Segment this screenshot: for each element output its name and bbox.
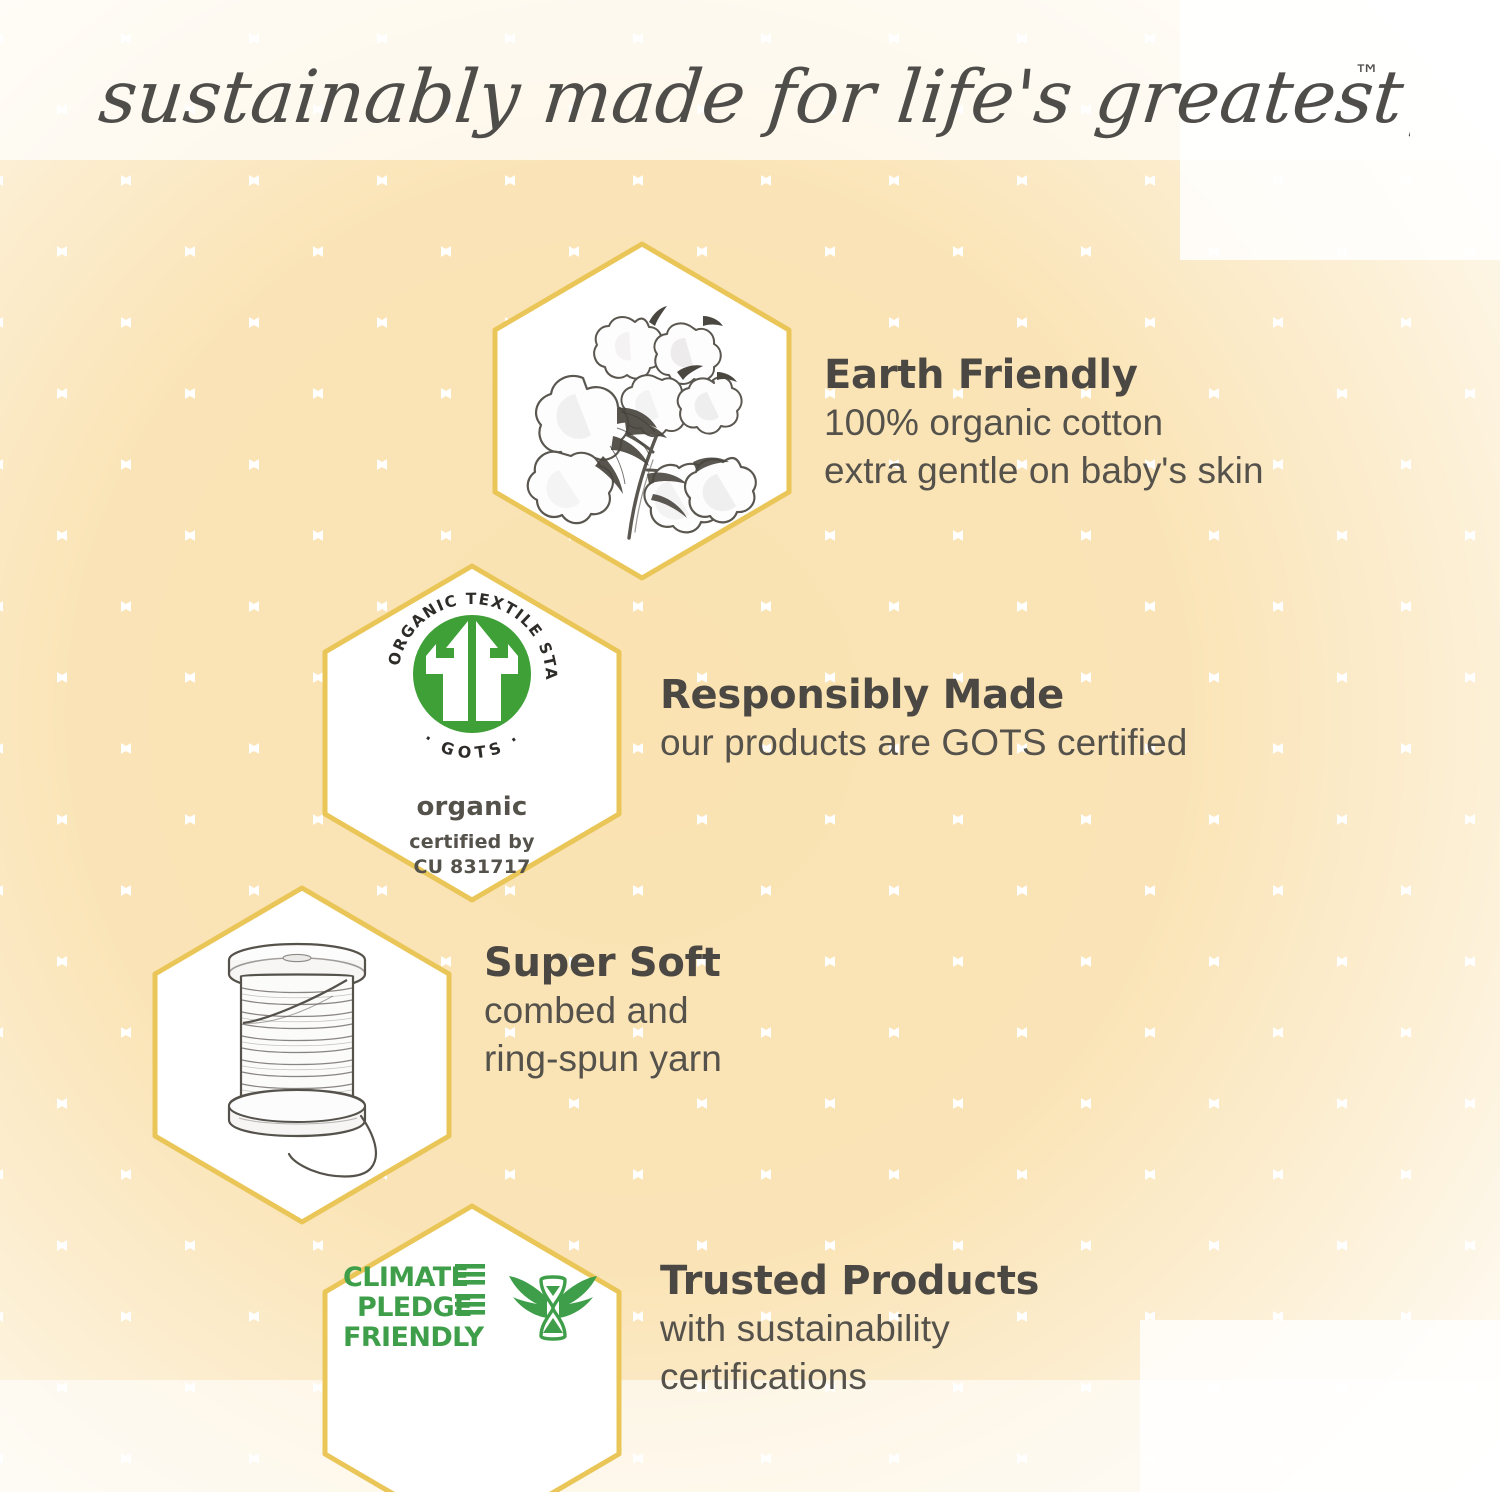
feature-hexagon-earth-friendly	[482, 238, 802, 584]
feature-title: Trusted Products	[660, 1258, 1039, 1305]
cpf-wordmark: CLIMATE PLEDGE FRIENDLY	[343, 1260, 489, 1356]
feature-text-trusted-products: Trusted Products with sustainability cer…	[660, 1258, 1039, 1400]
feature-line: combed and	[484, 987, 722, 1034]
headline-label: sustainably made for life's greatest joy	[95, 55, 1410, 140]
cpf-line-2: PLEDGE	[357, 1292, 472, 1323]
feature-title: Earth Friendly	[824, 352, 1264, 399]
feature-line: extra gentle on baby's skin	[824, 447, 1264, 494]
cpf-line-1: CLIMATE	[343, 1262, 468, 1293]
gots-certification-icon: GLOBAL ORGANIC TEXTILE STANDARD · GOTS ·	[368, 574, 576, 782]
gots-organic-label: organic	[416, 792, 527, 822]
gots-certified-by-label: certified by	[409, 830, 534, 855]
feature-hexagon-trusted-products: CLIMATE PLEDGE FRIENDLY	[312, 1200, 632, 1492]
gots-certifier-code: CU 831717	[409, 855, 534, 880]
feature-hexagon-responsibly-made: GLOBAL ORGANIC TEXTILE STANDARD · GOTS ·…	[312, 560, 632, 906]
cotton-branch-icon	[517, 280, 767, 542]
thread-spool-icon	[185, 930, 420, 1180]
winged-hourglass-icon	[505, 1268, 601, 1348]
gots-badge: GLOBAL ORGANIC TEXTILE STANDARD · GOTS ·…	[368, 574, 576, 880]
feature-text-earth-friendly: Earth Friendly 100% organic cotton extra…	[824, 352, 1264, 494]
climate-pledge-friendly-badge: CLIMATE PLEDGE FRIENDLY	[343, 1260, 601, 1356]
trademark-symbol: ™	[1354, 60, 1381, 91]
page-title: sustainably made for life's greatest joy…	[0, 48, 1500, 158]
promo-infographic: sustainably made for life's greatest joy…	[0, 0, 1500, 1492]
feature-text-super-soft: Super Soft combed and ring-spun yarn	[484, 940, 722, 1082]
feature-title: Super Soft	[484, 940, 722, 987]
feature-line: with sustainability	[660, 1305, 1039, 1352]
feature-line: 100% organic cotton	[824, 399, 1264, 446]
gots-ring-text-bottom: · GOTS ·	[420, 729, 524, 763]
cpf-line-3: FRIENDLY	[343, 1322, 485, 1353]
gots-certified-by: certified by CU 831717	[409, 830, 534, 880]
feature-title: Responsibly Made	[660, 672, 1187, 719]
feature-line: certifications	[660, 1353, 1039, 1400]
feature-hexagon-super-soft	[142, 882, 462, 1228]
feature-line: ring-spun yarn	[484, 1035, 722, 1082]
feature-line: our products are GOTS certified	[660, 719, 1187, 766]
feature-text-responsibly-made: Responsibly Made our products are GOTS c…	[660, 672, 1187, 767]
headline-script-text: sustainably made for life's greatest joy…	[90, 48, 1410, 158]
